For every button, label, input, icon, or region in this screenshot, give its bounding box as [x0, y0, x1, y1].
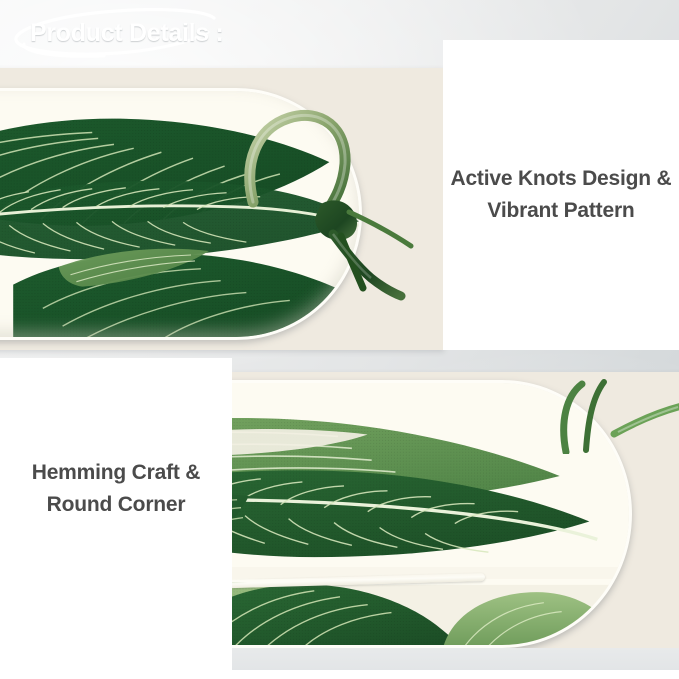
feature-photo-hemming-craft: [232, 372, 679, 649]
page-title: Product Details :: [30, 19, 224, 48]
caption-text-hemming-craft: Hemming Craft & Round Corner: [32, 457, 201, 521]
caption-line-1: Hemming Craft &: [32, 461, 201, 484]
page-title-badge: Product Details :: [14, 12, 244, 56]
caption-line-2: Round Corner: [47, 493, 186, 516]
tie-knot-detail: [229, 84, 429, 314]
caption-card-active-knots: Active Knots Design & Vibrant Pattern: [443, 40, 679, 350]
feature-photo-active-knots: [0, 68, 444, 350]
caption-card-hemming-craft: Hemming Craft & Round Corner: [0, 358, 232, 620]
product-details-infographic: Active Knots Design & Vibrant Pattern He…: [0, 0, 679, 679]
caption-line-1: Active Knots Design &: [450, 167, 671, 190]
caption-text-active-knots: Active Knots Design & Vibrant Pattern: [450, 163, 671, 227]
caption-line-2: Vibrant Pattern: [487, 199, 634, 222]
bottom-white-edge: [0, 670, 679, 679]
tie-strap-stems: [530, 374, 679, 454]
